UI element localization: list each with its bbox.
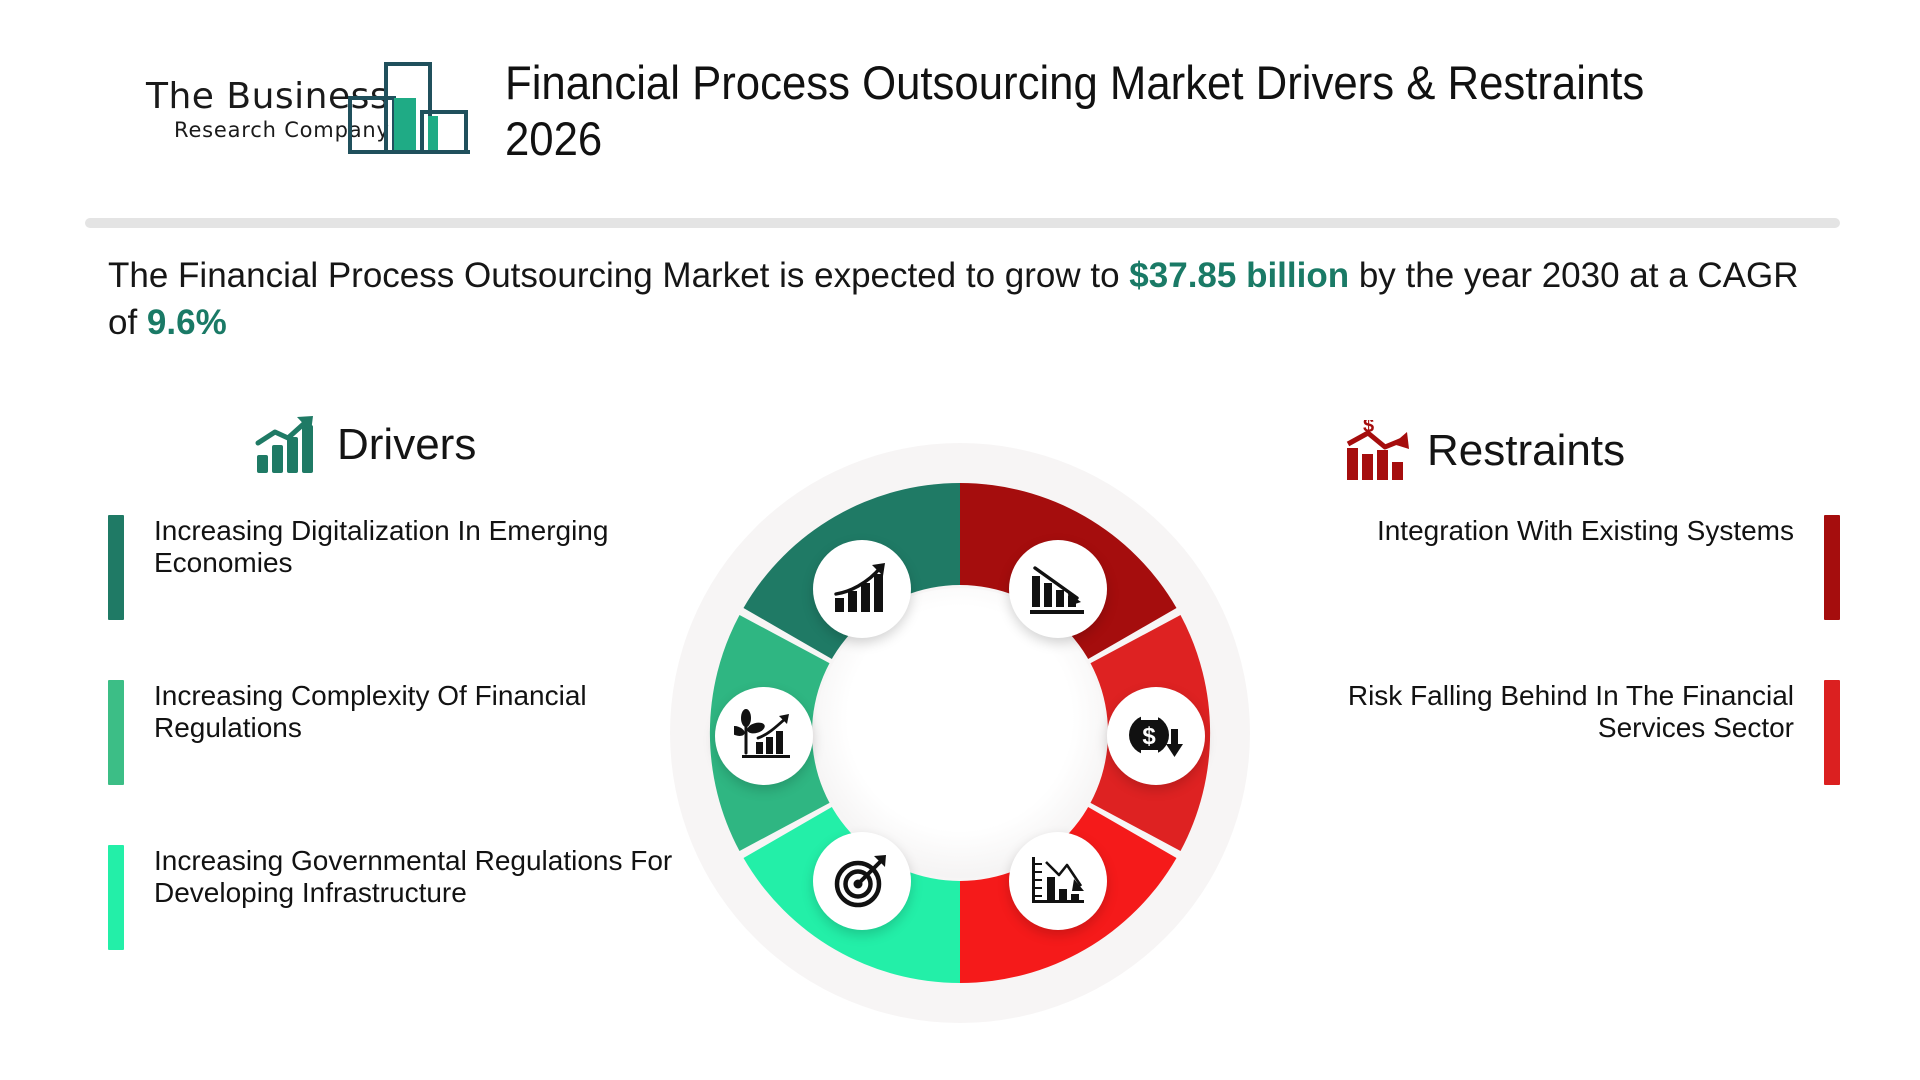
list-item: Risk Falling Behind In The Financial Ser…	[1264, 680, 1840, 785]
restraints-heading: Restraints	[1427, 426, 1625, 476]
badge-falling-line-chart	[1009, 832, 1107, 930]
dollar-decrease-arrow-icon: $	[1127, 709, 1185, 763]
restraints-section-header: $ Restraints	[1345, 420, 1625, 482]
company-logo: The Business Research Company	[140, 52, 470, 162]
driver-label: Increasing Complexity Of Financial Regul…	[154, 680, 684, 785]
list-item: Integration With Existing Systems	[1264, 515, 1840, 620]
page-header: The Business Research Company Financial …	[0, 0, 1920, 212]
target-bullseye-arrow-icon	[833, 853, 891, 909]
badge-target	[813, 832, 911, 930]
declining-bar-chart-arrow-icon	[1029, 562, 1087, 616]
badge-growth-curve	[813, 540, 911, 638]
svg-text:$: $	[1363, 420, 1374, 437]
list-item: Increasing Digitalization In Emerging Ec…	[108, 515, 684, 620]
list-item: Increasing Complexity Of Financial Regul…	[108, 680, 684, 785]
rising-bar-chart-arrow-icon	[255, 415, 321, 475]
cagr-value: 9.6%	[147, 303, 227, 342]
badge-plant-growth	[715, 687, 813, 785]
driver-accent-bar	[108, 845, 124, 950]
driver-label: Increasing Governmental Regulations For …	[154, 845, 684, 950]
drivers-heading: Drivers	[337, 420, 476, 470]
list-item: Increasing Governmental Regulations For …	[108, 845, 684, 950]
falling-bar-chart-dollar-icon: $	[1345, 420, 1411, 482]
growth-curve-bar-chart-icon	[833, 562, 891, 616]
restraint-accent-bar	[1824, 515, 1840, 620]
page-title: Financial Process Outsourcing Market Dri…	[505, 55, 1649, 168]
svg-text:$: $	[1142, 723, 1156, 750]
restraint-label: Risk Falling Behind In The Financial Ser…	[1264, 680, 1794, 785]
market-value: $37.85 billion	[1129, 256, 1349, 295]
driver-accent-bar	[108, 680, 124, 785]
badge-dollar-decrease: $	[1107, 687, 1205, 785]
drivers-section-header: Drivers	[255, 415, 476, 475]
market-summary-text: The Financial Process Outsourcing Market…	[108, 253, 1808, 347]
restraint-label: Integration With Existing Systems	[1264, 515, 1794, 620]
header-divider	[85, 218, 1840, 228]
restraint-accent-bar	[1824, 680, 1840, 785]
drivers-restraints-donut-chart: $	[670, 443, 1250, 1023]
badge-declining-bars	[1009, 540, 1107, 638]
driver-label: Increasing Digitalization In Emerging Ec…	[154, 515, 684, 620]
bar-chart-logo-icon	[328, 54, 470, 158]
summary-part-1: The Financial Process Outsourcing Market…	[108, 256, 1129, 295]
plant-growth-bar-chart-icon	[734, 708, 794, 764]
falling-line-bar-chart-icon	[1029, 853, 1087, 909]
driver-accent-bar	[108, 515, 124, 620]
